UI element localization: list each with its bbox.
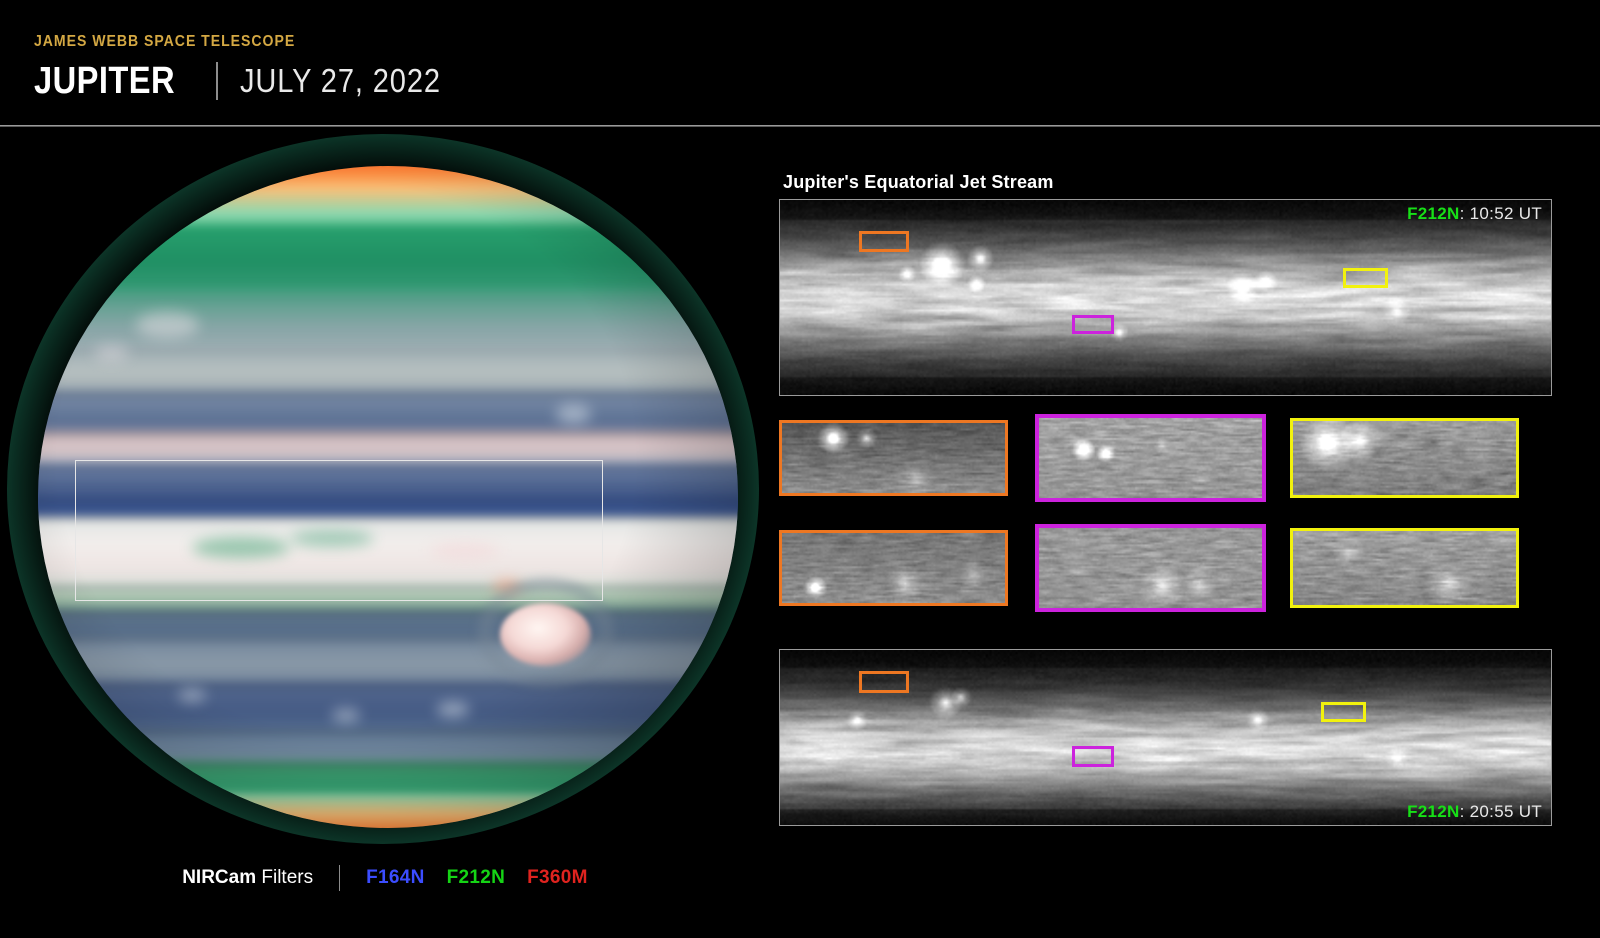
marker-yellow-top[interactable]	[1343, 268, 1388, 288]
title-row: JUPITER JULY 27, 2022	[34, 58, 468, 104]
nircam-label: NIRCam Filters	[182, 867, 313, 889]
jet-stream-strip-top[interactable]: F212N: 10:52 UT	[779, 199, 1552, 396]
jet-stream-image-top	[780, 200, 1551, 395]
marker-orange-top[interactable]	[859, 231, 909, 252]
filter-name-top: F212N	[1407, 204, 1460, 223]
jet-stream-title: Jupiter's Equatorial Jet Stream	[783, 172, 1054, 193]
time-top: : 10:52 UT	[1460, 204, 1542, 223]
inset-magenta-bottom[interactable]	[1035, 524, 1266, 612]
infographic-root: JAMES WEBB SPACE TELESCOPE JUPITER JULY …	[0, 0, 1600, 938]
filter-f212n: F212N	[447, 867, 506, 889]
marker-orange-bottom[interactable]	[859, 671, 909, 693]
equatorial-region-selection-box[interactable]	[75, 460, 603, 601]
time-bottom: : 20:55 UT	[1460, 802, 1542, 821]
timestamp-bottom: F212N: 20:55 UT	[1407, 802, 1542, 822]
header: JAMES WEBB SPACE TELESCOPE JUPITER JULY …	[0, 0, 1600, 126]
inset-magenta-top[interactable]	[1035, 414, 1266, 502]
inset-yellow-top[interactable]	[1290, 418, 1519, 498]
filter-f164n: F164N	[366, 867, 425, 889]
filter-f360m: F360M	[527, 867, 588, 889]
filters-divider	[339, 865, 340, 891]
timestamp-top: F212N: 10:52 UT	[1407, 204, 1542, 224]
inset-image-magenta-bottom	[1039, 528, 1262, 608]
filter-name-bottom: F212N	[1407, 802, 1460, 821]
marker-yellow-bottom[interactable]	[1321, 702, 1366, 722]
filters-word: Filters	[256, 867, 313, 888]
inset-image-magenta-top	[1039, 418, 1262, 498]
inset-orange-top[interactable]	[779, 420, 1008, 496]
jupiter-image	[33, 158, 743, 834]
inset-image-orange-bottom	[782, 533, 1005, 603]
inset-image-yellow-top	[1293, 421, 1516, 495]
jet-stream-strip-bottom[interactable]: F212N: 20:55 UT	[779, 649, 1552, 826]
inset-image-orange-top	[782, 423, 1005, 493]
inset-image-yellow-bottom	[1293, 531, 1516, 605]
header-divider-rule	[0, 125, 1600, 127]
inset-orange-bottom[interactable]	[779, 530, 1008, 606]
marker-magenta-bottom[interactable]	[1072, 746, 1114, 767]
observation-date: JULY 27, 2022	[240, 62, 441, 100]
observatory-name: JAMES WEBB SPACE TELESCOPE	[34, 33, 295, 51]
page-title: JUPITER	[34, 60, 175, 103]
marker-magenta-top[interactable]	[1072, 315, 1114, 334]
nircam-instrument-name: NIRCam	[182, 867, 256, 888]
nircam-filters-legend: NIRCam Filters F164N F212N F360M	[0, 856, 770, 900]
inset-yellow-bottom[interactable]	[1290, 528, 1519, 608]
title-divider	[216, 62, 218, 100]
jupiter-panel	[0, 130, 770, 860]
